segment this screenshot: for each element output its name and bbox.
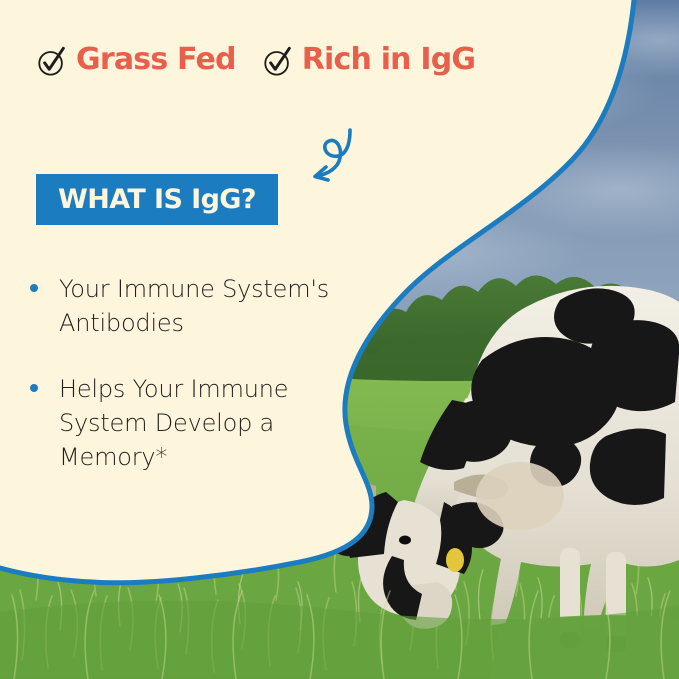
claims-row: Grass Fed Rich in IgG: [36, 44, 475, 75]
check-circle-icon: [36, 46, 67, 77]
infographic-canvas: Grass Fed Rich in IgG WHAT IS IgG? Yo: [0, 0, 679, 679]
benefit-bullet-list: Your Immune System's Antibodies Helps Yo…: [30, 272, 360, 506]
content-layer: Grass Fed Rich in IgG WHAT IS IgG? Yo: [0, 0, 679, 679]
headline-banner: WHAT IS IgG?: [36, 174, 278, 225]
claim-grass-fed: Grass Fed: [36, 44, 236, 75]
claim-label: Grass Fed: [76, 45, 236, 75]
bullet-dot-icon: [30, 284, 38, 292]
list-item-label: Helps Your Immune System Develop a Memor…: [59, 372, 360, 474]
headline-text: WHAT IS IgG?: [58, 186, 256, 213]
claim-label: Rich in IgG: [302, 45, 476, 75]
curly-arrow-down-left-icon: [300, 126, 364, 184]
bullet-dot-icon: [30, 384, 38, 392]
list-item: Your Immune System's Antibodies: [30, 272, 360, 340]
list-item: Helps Your Immune System Develop a Memor…: [30, 372, 360, 474]
check-circle-icon: [262, 46, 293, 77]
claim-rich-in-igg: Rich in IgG: [262, 44, 476, 75]
list-item-label: Your Immune System's Antibodies: [59, 272, 360, 340]
